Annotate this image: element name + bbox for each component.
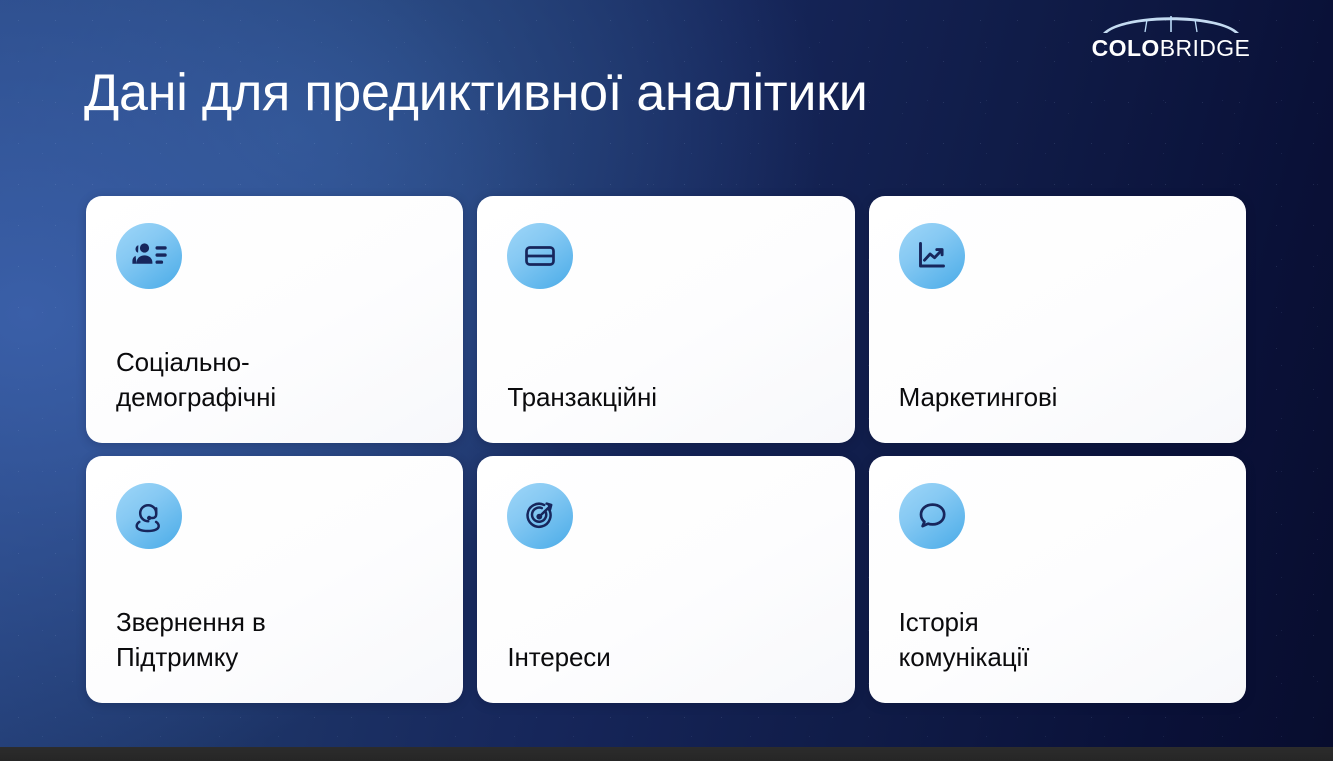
card-label: Інтереси (507, 640, 824, 677)
card-marketing[interactable]: Маркетингові (869, 196, 1246, 443)
support-agent-icon (116, 483, 182, 549)
trending-chart-icon (899, 223, 965, 289)
speech-bubble-icon (899, 483, 965, 549)
target-arrow-icon (507, 483, 573, 549)
slide-title: Дані для предиктивної аналітики (84, 64, 868, 122)
video-player-bar[interactable] (0, 747, 1333, 761)
logo-wordmark: COLOBRIDGE (1091, 37, 1251, 60)
users-list-icon (116, 223, 182, 289)
card-support-requests[interactable]: Звернення в Підтримку (86, 456, 463, 703)
logo-text-colo: COLO (1092, 35, 1160, 61)
card-label: Маркетингові (899, 380, 1216, 417)
data-category-grid: Соціально- демографічні Транзакційні (86, 196, 1246, 703)
bridge-arc-icon (1101, 8, 1241, 34)
presentation-slide: COLOBRIDGE Дані для предиктивної аналіти… (0, 0, 1333, 747)
card-socio-demographic[interactable]: Соціально- демографічні (86, 196, 463, 443)
card-communication-history[interactable]: Історія комунікації (869, 456, 1246, 703)
card-label: Звернення в Підтримку (116, 605, 433, 677)
card-label: Історія комунікації (899, 605, 1216, 677)
card-label: Соціально- демографічні (116, 345, 433, 417)
credit-card-icon (507, 223, 573, 289)
logo-text-bridge: BRIDGE (1160, 35, 1251, 61)
colobridge-logo: COLOBRIDGE (1091, 8, 1251, 60)
card-interests[interactable]: Інтереси (477, 456, 854, 703)
card-transactional[interactable]: Транзакційні (477, 196, 854, 443)
card-label: Транзакційні (507, 380, 824, 417)
